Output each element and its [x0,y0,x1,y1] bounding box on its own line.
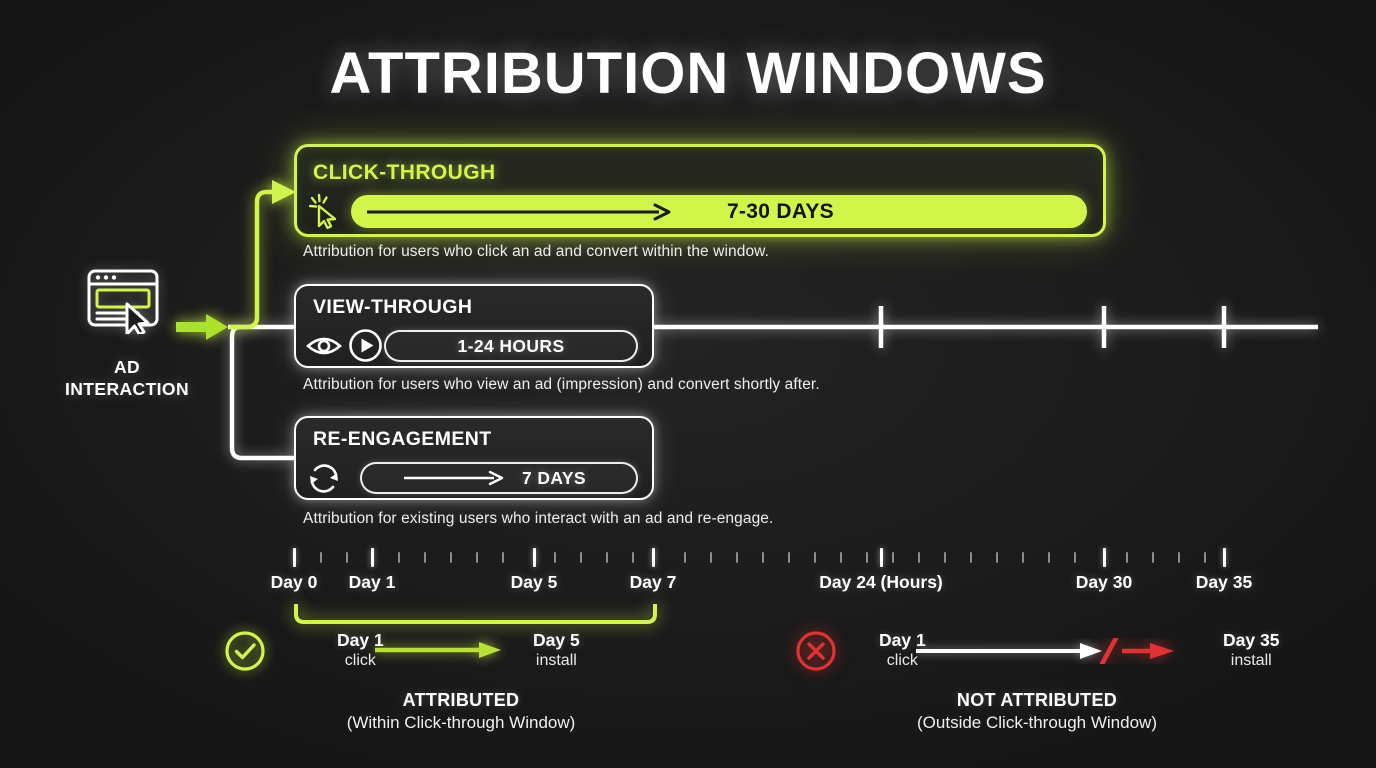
scenario-to-event: install [1223,651,1279,670]
ruler-tick-minor [1126,552,1128,563]
scenario-verdict-attributed: ATTRIBUTED (Within Click-through Window) [251,690,671,733]
ruler-tick-major [371,548,374,567]
card-title: CLICK-THROUGH [313,161,496,185]
x-circle-icon [795,630,837,672]
ruler-tick-minor [996,552,998,563]
ruler-label: Day 7 [630,572,677,593]
ad-browser-cursor-icon [86,268,168,334]
ruler-tick-minor [320,552,322,563]
ruler-tick-minor [1074,552,1076,563]
ruler-label: Day 35 [1196,572,1252,593]
card-re-engagement[interactable]: RE-ENGAGEMENT 7 DAYS [294,416,654,500]
verdict-title: ATTRIBUTED [251,690,671,711]
ruler-tick-minor [450,552,452,563]
ruler-tick-minor [424,552,426,563]
ruler-tick-major [533,548,536,567]
ruler-tick-minor [892,552,894,563]
scenario-to-label: Day 5 install [533,630,580,670]
ad-interaction-label: AD INTERACTION [60,356,194,401]
card-title: RE-ENGAGEMENT [313,428,492,451]
ruler-label: Day 24 (Hours) [819,572,943,593]
duration-pill: 7 DAYS [360,462,638,494]
card-title: VIEW-THROUGH [313,296,472,319]
ruler-label: Day 5 [511,572,558,593]
flow-arrow-icon [176,311,230,343]
scenario-to-day: Day 5 [533,630,580,651]
ruler-tick-minor [1022,552,1024,563]
ruler-tick-minor [1152,552,1154,563]
ruler-tick-minor [554,552,556,563]
duration-pill: 7-30 DAYS [351,195,1087,228]
card-caption: Attribution for existing users who inter… [303,510,773,528]
ruler-tick-minor [918,552,920,563]
ruler-tick-major [293,548,296,567]
duration-value: 1-24 HOURS [457,336,564,357]
ruler-tick-minor [788,552,790,563]
timeline-ruler: Day 0Day 1Day 5Day 7Day 24 (Hours)Day 30… [0,548,1376,604]
ruler-tick-minor [1048,552,1050,563]
scenario-arrow-icon [375,641,503,659]
card-caption: Attribution for users who click an ad an… [303,243,769,261]
ruler-tick-minor [710,552,712,563]
ruler-tick-major [652,548,655,567]
duration-arrow-icon [367,203,677,221]
ruler-tick-minor [606,552,608,563]
ruler-tick-minor [814,552,816,563]
scenario-verdict-not-attributed: NOT ATTRIBUTED (Outside Click-through Wi… [827,690,1247,733]
cursor-click-icon [309,193,343,229]
ruler-tick-minor [866,552,868,563]
card-click-through[interactable]: CLICK-THROUGH 7-30 DAYS [294,144,1106,237]
ruler-label: Day 30 [1076,572,1132,593]
ruler-tick-minor [580,552,582,563]
ruler-tick-minor [476,552,478,563]
ruler-tick-minor [1178,552,1180,563]
ruler-tick-minor [398,552,400,563]
scenario-to-label: Day 35 install [1223,630,1279,670]
ruler-tick-major [1223,548,1226,567]
ruler-tick-minor [736,552,738,563]
ruler-tick-major [880,548,883,567]
ruler-tick-minor [684,552,686,563]
check-circle-icon [224,630,266,672]
ruler-tick-minor [632,552,634,563]
verdict-title: NOT ATTRIBUTED [827,690,1247,711]
ruler-label: Day 0 [271,572,318,593]
card-view-through[interactable]: VIEW-THROUGH 1-24 HOURS [294,284,654,368]
infographic-canvas: ATTRIBUTION WINDOWS [0,0,1376,768]
ad-label-line1: AD [114,357,140,377]
duration-pill: 1-24 HOURS [384,330,638,362]
ruler-label: Day 1 [349,572,396,593]
duration-arrow-icon [404,470,508,486]
duration-value: 7 DAYS [522,468,586,489]
verdict-detail: (Within Click-through Window) [251,713,671,733]
page-title: ATTRIBUTION WINDOWS [0,40,1376,107]
ruler-tick-minor [346,552,348,563]
ad-label-line2: INTERACTION [65,379,189,399]
play-circle-icon [348,328,383,363]
scenario-break-arrow-icon [916,638,1178,664]
ruler-tick-minor [762,552,764,563]
ruler-tick-minor [944,552,946,563]
ruler-tick-minor [970,552,972,563]
duration-value: 7-30 DAYS [727,200,834,224]
ruler-tick-minor [502,552,504,563]
ad-interaction-block: AD INTERACTION [60,268,194,401]
ruler-tick-major [1103,548,1106,567]
ruler-tick-minor [1204,552,1206,563]
scenario-to-day: Day 35 [1223,630,1279,651]
card-caption: Attribution for users who view an ad (im… [303,376,820,394]
verdict-detail: (Outside Click-through Window) [827,713,1247,733]
scenario-to-event: install [533,651,580,670]
ruler-tick-minor [840,552,842,563]
eye-icon [306,331,342,361]
refresh-cycle-icon [307,462,341,495]
